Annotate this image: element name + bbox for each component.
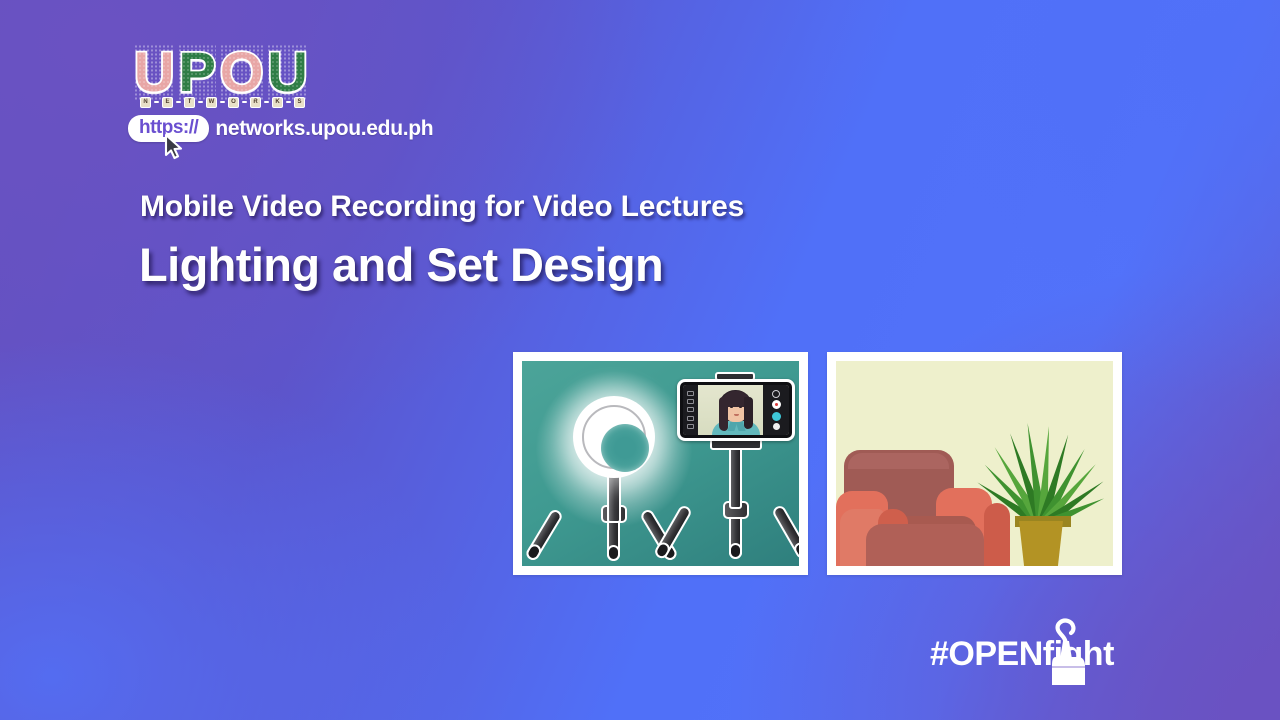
camera-right-toolbar	[763, 385, 789, 435]
ring-light-rim	[582, 405, 646, 469]
subject-eye-right	[739, 406, 742, 408]
camera-viewfinder	[698, 385, 763, 435]
camera-left-toolbar	[683, 385, 698, 435]
camera-mode-icon[interactable]	[772, 390, 780, 398]
set-design-scene	[836, 361, 1113, 566]
ring-light-stem	[607, 471, 621, 523]
subject-hair-right	[744, 397, 753, 429]
slide-canvas: U P O U N E T W O R K S https:// network…	[0, 0, 1280, 720]
set-design-photo	[827, 352, 1122, 575]
logo-letter-u1: U	[134, 44, 174, 100]
slide-subtitle: Mobile Video Recording for Video Lecture…	[140, 190, 744, 224]
ring-light-center	[601, 424, 649, 472]
tripod-foot	[524, 542, 543, 562]
tripod-foot	[792, 540, 799, 560]
upou-wordmark: U P O U	[128, 38, 458, 100]
ring-light	[573, 396, 655, 478]
camera-setting-icon	[687, 391, 694, 396]
tripod-right-column	[729, 447, 742, 509]
logo-letter-p: P	[178, 44, 215, 100]
logo-letter-o: O	[220, 44, 264, 100]
upou-networks-logo[interactable]: U P O U N E T W O R K S https:// network…	[128, 38, 458, 148]
phone-screen	[683, 385, 789, 435]
cursor-arrow-icon	[164, 134, 186, 165]
logo-url-text: networks.upou.edu.ph	[215, 117, 433, 141]
slide-title: Lighting and Set Design	[139, 237, 663, 292]
subject-hair-left	[719, 397, 728, 431]
tripod-right-leg-outer-right	[771, 504, 799, 561]
camera-accent-button[interactable]	[772, 412, 781, 421]
subject-eye-left	[730, 406, 733, 408]
camera-setting-icon	[687, 416, 694, 421]
logo-url-line[interactable]: https:// networks.upou.edu.ph	[128, 115, 458, 142]
camera-setting-icon	[687, 424, 694, 429]
plant-pot	[1019, 521, 1063, 566]
tripod-foot	[607, 545, 620, 561]
camera-setting-icon	[687, 407, 694, 412]
logo-letter-u2: U	[267, 44, 307, 100]
ring-light-scene	[522, 361, 799, 566]
ring-light-tripod-photo	[513, 352, 808, 575]
openfight-hashtag: #OPENfight	[930, 627, 1130, 687]
armchair-seat-front	[866, 524, 984, 566]
smartphone[interactable]	[677, 379, 795, 441]
raised-fist-icon	[1036, 615, 1096, 696]
tripod-foot	[729, 543, 742, 559]
record-button[interactable]	[772, 400, 781, 409]
plant-foliage	[984, 416, 1099, 526]
camera-shutter-button[interactable]	[773, 423, 780, 430]
camera-setting-icon	[687, 399, 694, 404]
armchair-backrest-top	[848, 453, 949, 469]
